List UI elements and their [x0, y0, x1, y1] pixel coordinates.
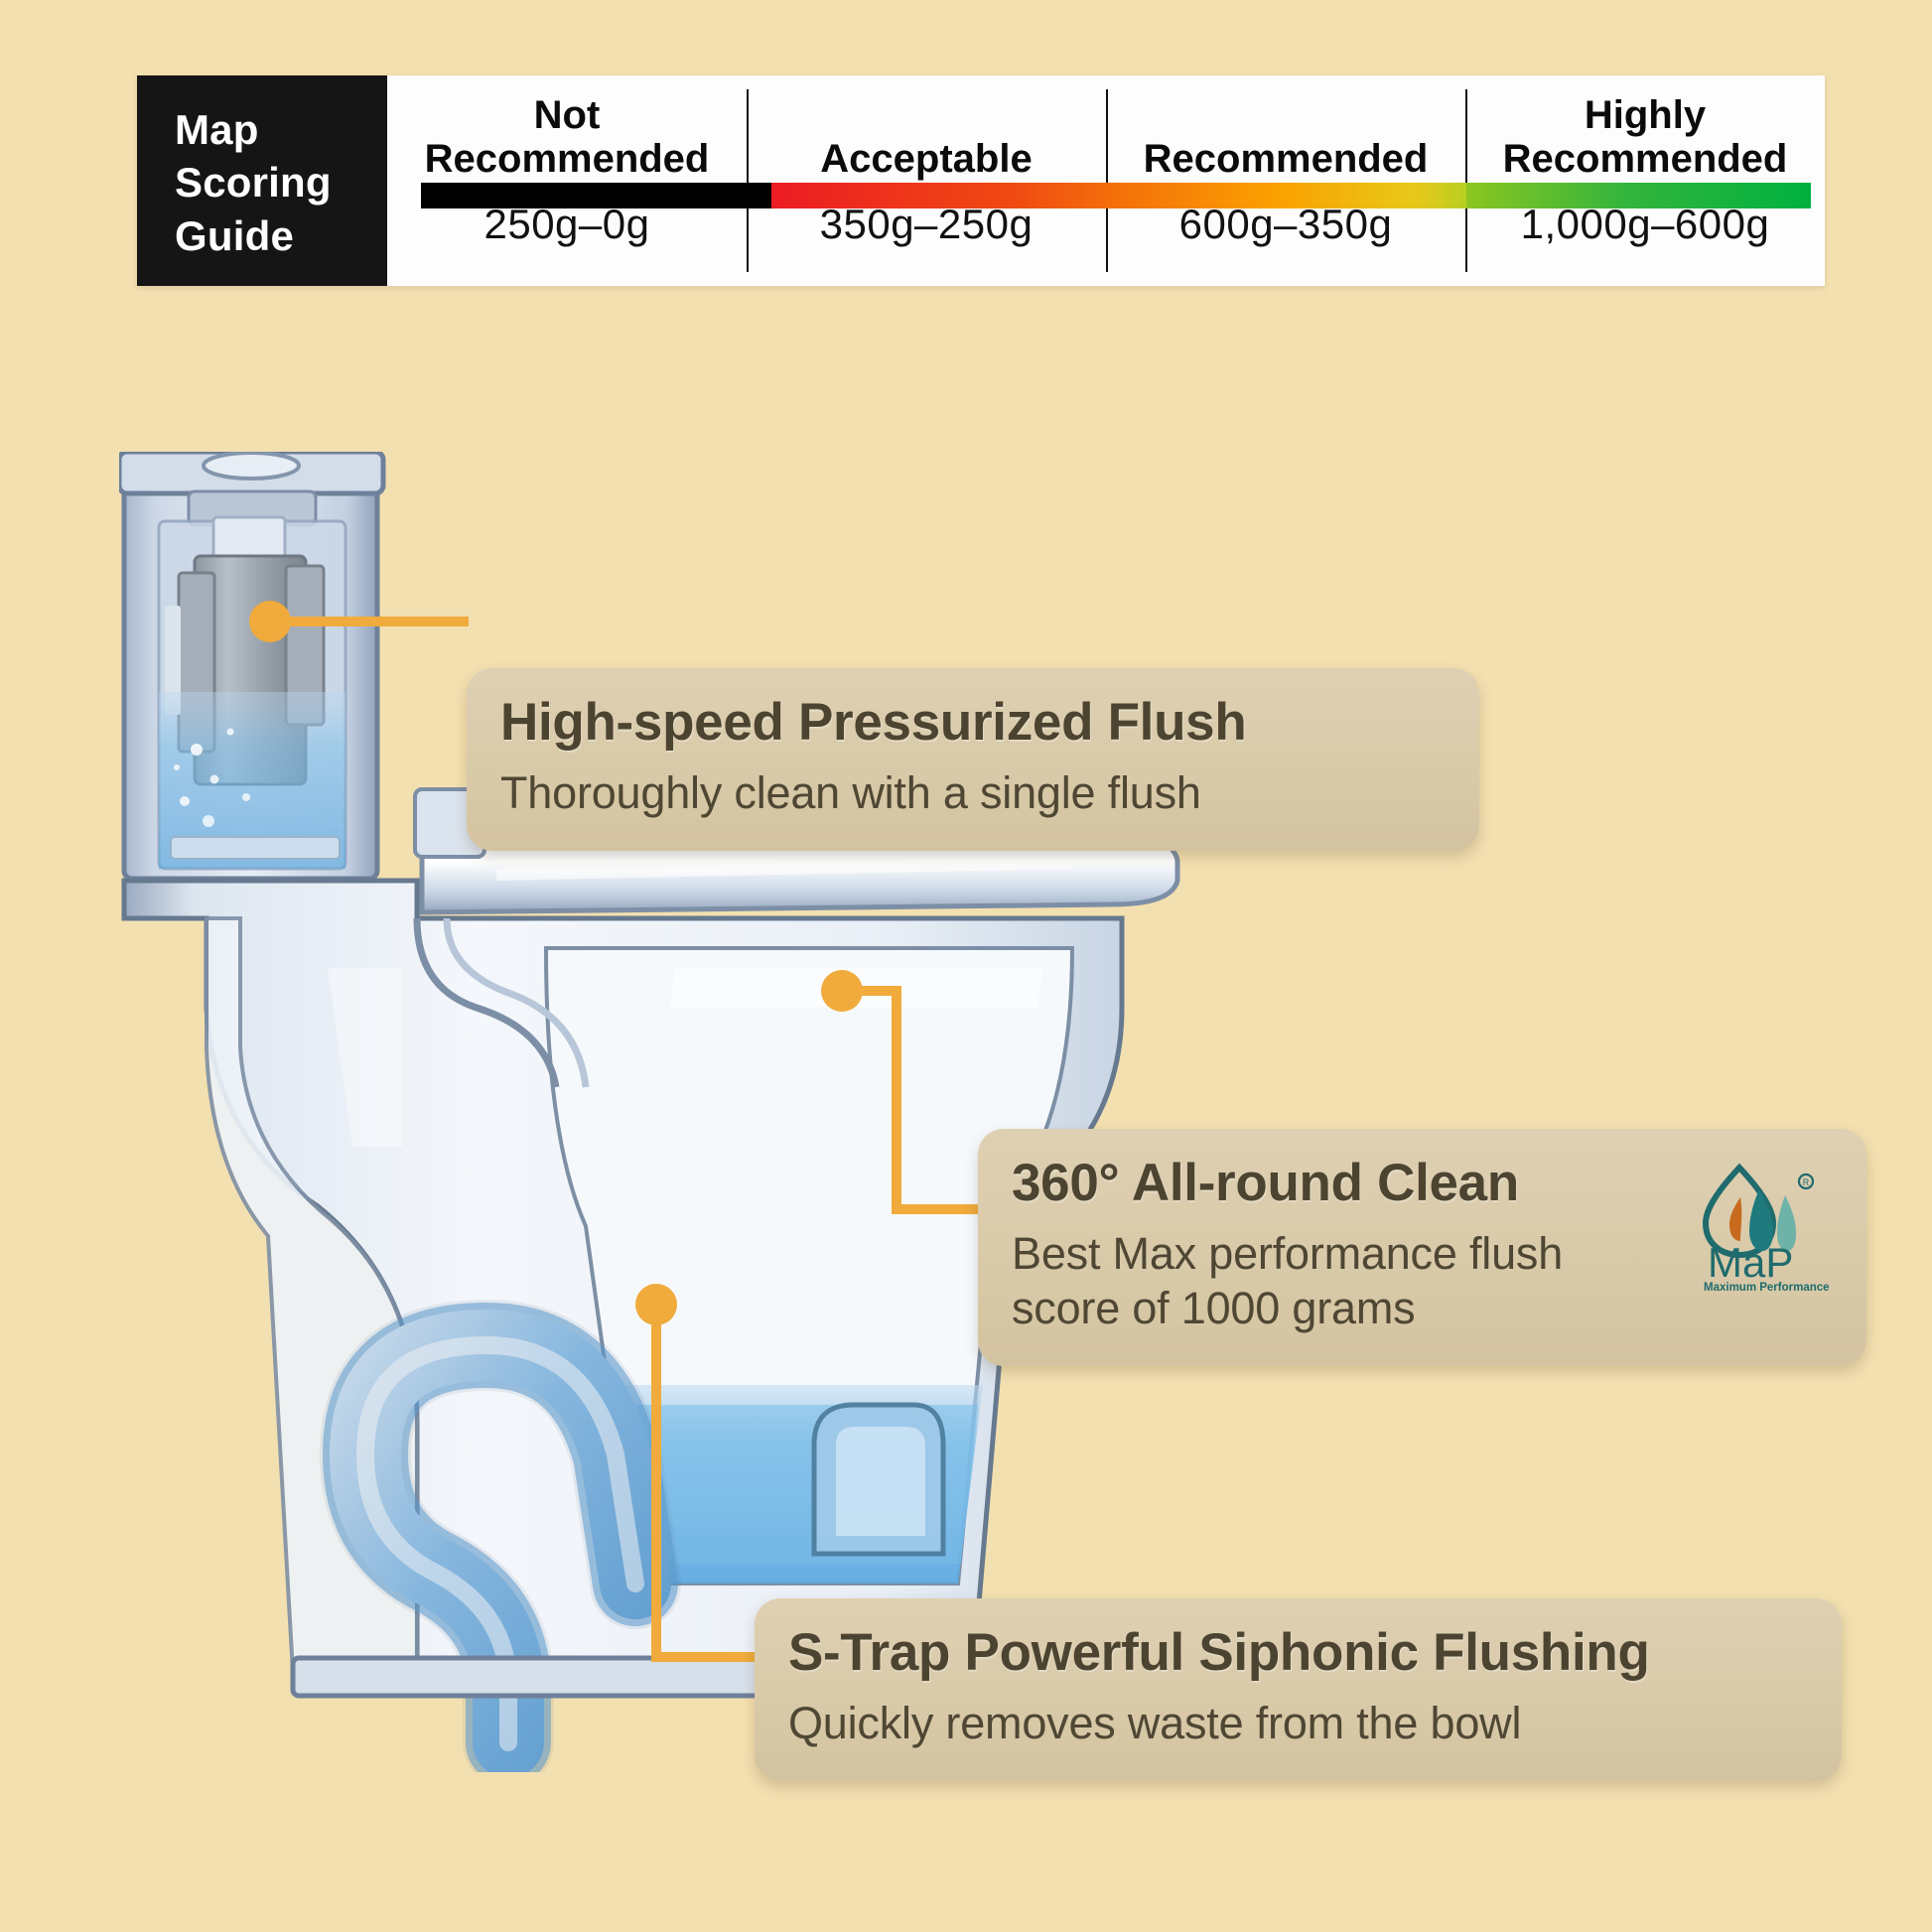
- callout-2-title: 360° All-round Clean: [1012, 1155, 1668, 1211]
- guide-title-line-2: Scoring: [175, 156, 387, 208]
- guide-header-acceptable: Acceptable: [820, 89, 1032, 181]
- guide-columns: Not Recommended 250g–0g Acceptable 350g–…: [387, 75, 1825, 286]
- guide-range-acceptable: 350g–250g: [820, 201, 1034, 248]
- guide-title-block: Map Scoring Guide: [137, 75, 387, 286]
- guide-column-highly-recommended: Highly Recommended 1,000g–600g: [1465, 75, 1825, 286]
- map-tagline: Maximum Performance: [1704, 1282, 1830, 1294]
- svg-text:R: R: [1803, 1177, 1810, 1187]
- guide-range-not-recommended: 250g–0g: [483, 201, 649, 248]
- callout-2-subtitle: Best Max performance flush score of 1000…: [1012, 1227, 1668, 1336]
- guide-header-not-recommended: Not Recommended: [425, 89, 710, 181]
- guide-column-acceptable: Acceptable 350g–250g: [747, 75, 1106, 286]
- callout-1-title: High-speed Pressurized Flush: [500, 694, 1446, 751]
- guide-range-highly-recommended: 1,000g–600g: [1521, 201, 1770, 248]
- guide-title-line-1: Map: [175, 103, 387, 156]
- guide-header-highly-recommended: Highly Recommended: [1503, 89, 1788, 181]
- callout-3-title: S-Trap Powerful Siphonic Flushing: [788, 1624, 1808, 1681]
- guide-column-not-recommended: Not Recommended 250g–0g: [387, 75, 747, 286]
- callout-1-subtitle: Thoroughly clean with a single flush: [500, 766, 1446, 821]
- map-logo: R MaP Maximum Performance: [1700, 1160, 1849, 1294]
- guide-title-line-3: Guide: [175, 209, 387, 262]
- callout-s-trap-siphonic[interactable]: S-Trap Powerful Siphonic Flushing Quickl…: [755, 1598, 1842, 1781]
- guide-column-recommended: Recommended 600g–350g: [1106, 75, 1465, 286]
- map-flame-icon: [1729, 1197, 1741, 1241]
- leader-segment-clean-v: [892, 986, 901, 1214]
- leader-segment-strap-v: [651, 1305, 661, 1662]
- guide-range-recommended: 600g–350g: [1179, 201, 1393, 248]
- callout-3-subtitle: Quickly removes waste from the bowl: [788, 1697, 1808, 1751]
- map-scoring-guide: Map Scoring Guide Not Recommended 250g–0…: [137, 75, 1825, 286]
- guide-header-recommended: Recommended: [1144, 89, 1429, 181]
- toilet-cutaway-illustration: [119, 452, 1291, 1772]
- leader-segment-flush: [270, 617, 469, 626]
- map-wordmark: MaP: [1708, 1239, 1793, 1286]
- callout-high-speed-flush[interactable]: High-speed Pressurized Flush Thoroughly …: [467, 668, 1479, 851]
